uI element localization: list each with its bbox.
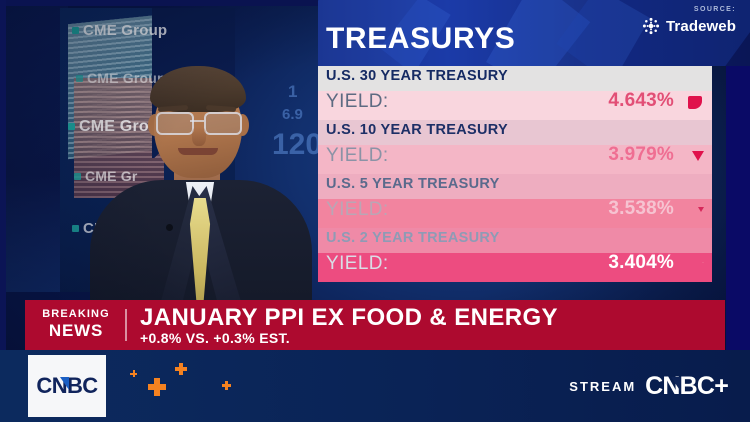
badge-divider	[125, 309, 127, 341]
treasury-name: U.S. 10 YEAR TREASURY	[326, 122, 508, 138]
tradeweb-logo-icon	[641, 16, 661, 36]
yield-label: YIELD:	[326, 145, 389, 167]
news-label: NEWS	[37, 321, 115, 340]
breaking-label: BREAKING	[37, 307, 115, 321]
stream-label: STREAM	[569, 379, 636, 394]
treasury-row[interactable]: U.S. 30 YEAR TREASURYYIELD:4.643%	[318, 66, 712, 120]
plus-icon	[130, 370, 137, 377]
treasury-row[interactable]: U.S. 2 YEAR TREASURYYIELD:3.404%	[318, 228, 712, 282]
yield-value: 3.979%	[608, 144, 674, 166]
peacock-notch-icon	[60, 377, 69, 390]
cnbc-plus-wordmark: CNBC+	[645, 372, 728, 401]
breaking-news-banner: BREAKING NEWS JANUARY PPI EX FOOD & ENER…	[25, 300, 725, 350]
treasury-row[interactable]: U.S. 10 YEAR TREASURYYIELD:3.979%	[318, 120, 712, 174]
headline-text: JANUARY PPI EX FOOD & ENERGY	[140, 304, 558, 332]
peacock-notch-icon-2	[671, 377, 681, 392]
yield-label: YIELD:	[326, 253, 389, 275]
bottom-bar: CNBC STREAM CNBC+	[0, 350, 750, 422]
plus-icon	[148, 378, 166, 396]
yield-label: YIELD:	[326, 199, 389, 221]
yield-value: 4.643%	[608, 90, 674, 112]
treasury-name: U.S. 5 YEAR TREASURY	[326, 176, 500, 192]
direction-arrow-down	[702, 262, 704, 263]
panel-title: TREASURYS	[326, 22, 515, 56]
broadcast-screen: CME Group CME Group CME Group CME Gr CME…	[0, 0, 750, 422]
treasury-row[interactable]: U.S. 5 YEAR TREASURYYIELD:3.538%	[318, 174, 712, 228]
cnbc-wordmark: CNBC	[36, 373, 97, 399]
treasurys-panel: TREASURYS SOURCE:	[318, 0, 712, 284]
direction-arrow-down	[692, 151, 704, 161]
source-label: SOURCE:	[641, 6, 736, 13]
yield-value: 3.404%	[608, 252, 674, 274]
yield-label: YIELD:	[326, 91, 389, 113]
plus-icon	[222, 381, 231, 390]
plus-icon	[175, 363, 187, 375]
treasury-rows: U.S. 30 YEAR TREASURYYIELD:4.643%U.S. 10…	[318, 66, 712, 282]
source-attribution: SOURCE: Tradeweb	[641, 6, 736, 36]
yield-value: 3.538%	[608, 198, 674, 220]
subheadline-text: +0.8% VS. +0.3% EST.	[140, 330, 290, 346]
treasury-name: U.S. 30 YEAR TREASURY	[326, 68, 508, 84]
breaking-news-badge: BREAKING NEWS	[37, 307, 115, 340]
direction-arrow-down	[698, 207, 704, 212]
source-name: Tradeweb	[666, 18, 736, 35]
treasury-name: U.S. 2 YEAR TREASURY	[326, 230, 500, 246]
left-edge	[0, 0, 6, 350]
cnbc-logo: CNBC	[28, 355, 106, 417]
stream-promo: STREAM CNBC+	[569, 372, 728, 401]
treasurys-header: TREASURYS SOURCE:	[318, 0, 750, 66]
